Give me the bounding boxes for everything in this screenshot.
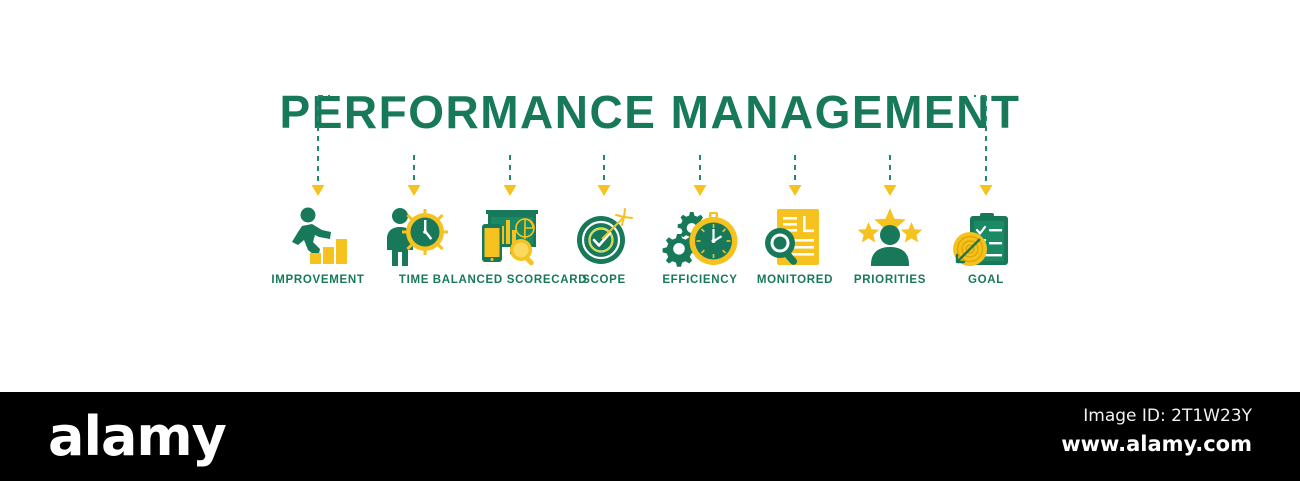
image-id-text: Image ID: 2T1W23Y — [1083, 406, 1252, 426]
page-title: PERFORMANCE MANAGEMENT — [0, 84, 1300, 140]
connector-lines — [0, 0, 1300, 392]
node-label-scope: SCOPE — [582, 274, 626, 286]
node-label-priorities: PRIORITIES — [854, 274, 926, 286]
node-balanced-scorecard[interactable]: BALANCED SCORECARD — [460, 206, 560, 302]
node-improvement[interactable]: IMPROVEMENT — [268, 206, 368, 302]
node-monitored[interactable]: MONITORED — [745, 206, 845, 302]
node-label-monitored: MONITORED — [757, 274, 833, 286]
node-label-goal: GOAL — [968, 274, 1004, 286]
node-scope[interactable]: SCOPE — [554, 206, 654, 302]
person-clock-icon — [378, 206, 450, 268]
document-magnifier-icon — [759, 206, 831, 268]
node-priorities[interactable]: PRIORITIES — [840, 206, 940, 302]
alamy-watermark-bar: alamy Image ID: 2T1W23Y www.alamy.com — [0, 392, 1300, 481]
running-person-bar-chart-icon — [282, 206, 354, 268]
node-efficiency[interactable]: EFFICIENCY — [650, 206, 750, 302]
node-goal[interactable]: GOAL — [936, 206, 1036, 302]
node-time[interactable]: TIME — [364, 206, 464, 302]
node-label-efficiency: EFFICIENCY — [662, 274, 737, 286]
banner-graphic: PERFORMANCE MANAGEMENT IMPROVEMENT — [0, 0, 1300, 392]
icon-row: IMPROVEMENT — [0, 206, 1300, 306]
node-label-time: TIME — [399, 274, 429, 286]
alamy-url-text: www.alamy.com — [1061, 432, 1252, 456]
node-label-improvement: IMPROVEMENT — [271, 274, 364, 286]
person-stars-icon — [854, 206, 926, 268]
target-dart-check-icon — [568, 206, 640, 268]
gears-stopwatch-icon — [664, 206, 736, 268]
clipboard-checklist-target-arrow-icon — [950, 206, 1022, 268]
presentation-chart-phone-magnifier-icon — [474, 206, 546, 268]
alamy-logo: alamy — [48, 408, 226, 466]
